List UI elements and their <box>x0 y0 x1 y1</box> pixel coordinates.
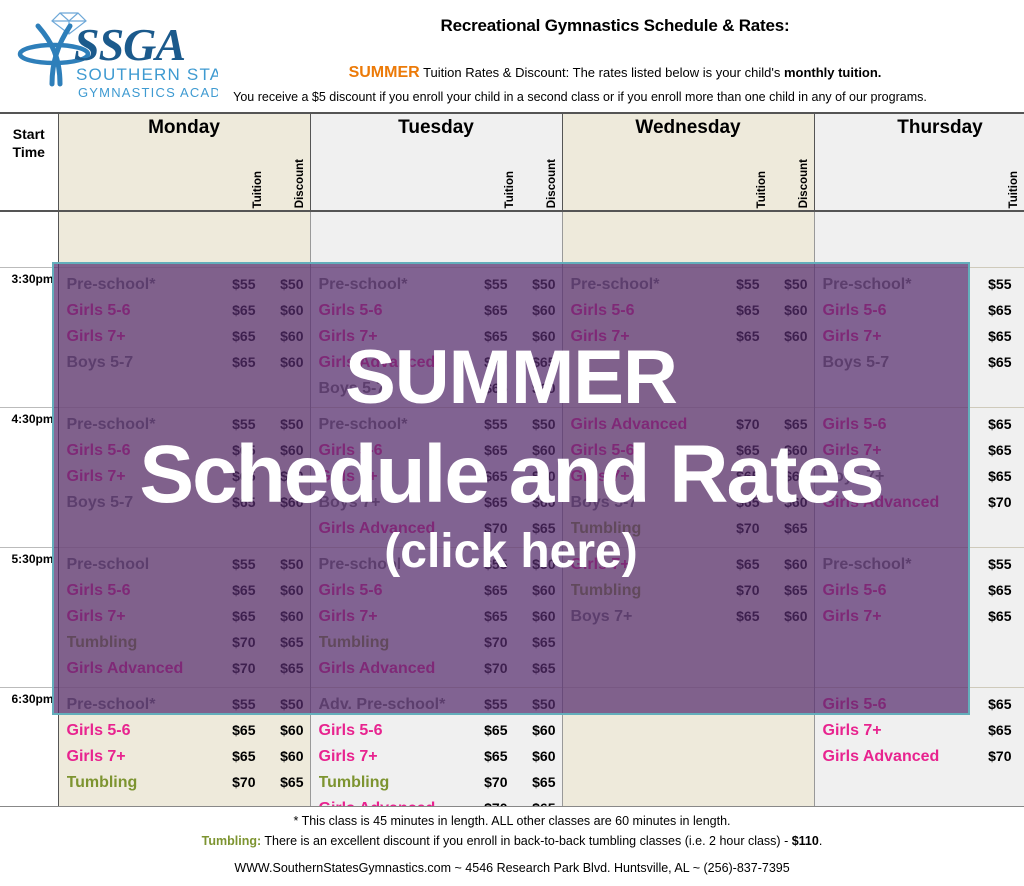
class-discount: $60 <box>1012 463 1024 489</box>
class-tuition: $65 <box>968 717 1012 743</box>
tumbling-price: $110 <box>792 834 819 848</box>
class-tuition: $65 <box>968 411 1012 437</box>
class-discount: $60 <box>1012 603 1024 629</box>
table-head: Start Time Monday Tuition Discount Tuesd… <box>0 113 1024 211</box>
footnote-tumbling: Tumbling: There is an excellent discount… <box>0 834 1024 848</box>
subtitle-rest: Tuition Rates & Discount: The rates list… <box>420 65 784 80</box>
spacer-cell <box>310 211 562 267</box>
class-entry: Girls 7+$65$60 <box>815 717 1024 743</box>
class-name: Girls 5-6 <box>319 718 464 744</box>
contact-info: WWW.SouthernStatesGymnastics.com ~ 4546 … <box>0 861 1024 875</box>
class-name: Girls Advanced <box>823 744 968 770</box>
spacer-cell <box>562 211 814 267</box>
class-tuition: $55 <box>968 271 1012 297</box>
class-discount: $50 <box>1012 271 1024 297</box>
class-tuition: $55 <box>968 551 1012 577</box>
svg-text:SSGA: SSGA <box>74 19 185 70</box>
row-time-label: 5:30pm <box>0 547 58 687</box>
class-discount: $65 <box>508 769 556 795</box>
subtitle-bold: monthly tuition. <box>784 65 881 80</box>
class-tuition: $65 <box>968 577 1012 603</box>
page-footer: * This class is 45 minutes in length. AL… <box>0 806 1024 886</box>
discount-label: Discount <box>294 159 306 208</box>
class-discount: $60 <box>256 743 304 769</box>
tuition-label: Tuition <box>252 171 264 208</box>
header-row: Start Time Monday Tuition Discount Tuesd… <box>0 113 1024 211</box>
spacer-cell <box>58 211 310 267</box>
class-entry: Tumbling$70$65 <box>59 769 310 795</box>
day-header-tuesday: Tuesday Tuition Discount <box>310 113 562 211</box>
tumbling-label: Tumbling: <box>202 834 261 848</box>
class-discount: $60 <box>508 743 556 769</box>
class-discount: $65 <box>256 769 304 795</box>
spacer-row <box>0 211 1024 267</box>
class-tuition: $65 <box>464 743 508 769</box>
season-label: SUMMER <box>349 64 420 81</box>
page-header: SSGA SOUTHERN STATES GYMNASTICS ACADEMY … <box>0 0 1024 112</box>
discount-note: You receive a $5 discount if you enroll … <box>150 90 1010 104</box>
class-tuition: $65 <box>968 349 1012 375</box>
class-entry: Girls Advanced$70$65 <box>815 743 1024 769</box>
overlay-line-2: Schedule and Rates <box>139 436 882 514</box>
class-discount: $60 <box>1012 349 1024 375</box>
class-tuition: $70 <box>212 769 256 795</box>
overlay-line-1: SUMMER <box>345 342 677 414</box>
spacer-time-cell <box>0 211 58 267</box>
day-label: Wednesday <box>563 117 814 139</box>
class-discount: $60 <box>1012 437 1024 463</box>
spacer-cell <box>814 211 1024 267</box>
class-tuition: $65 <box>968 297 1012 323</box>
tuition-label: Tuition <box>504 171 516 208</box>
class-discount: $60 <box>1012 717 1024 743</box>
tumbling-period: . <box>819 834 822 848</box>
discount-label: Discount <box>546 159 558 208</box>
class-name: Girls 7+ <box>67 744 212 770</box>
class-entry: Girls 7+$65$60 <box>59 743 310 769</box>
class-entry: Girls 7+$65$60 <box>311 743 562 769</box>
class-discount: $65 <box>1012 743 1024 769</box>
footnote-class-length: * This class is 45 minutes in length. AL… <box>0 814 1024 828</box>
class-discount: $50 <box>1012 551 1024 577</box>
day-header-thursday: Thursday Tuition Discount <box>814 113 1024 211</box>
page-title: Recreational Gymnastics Schedule & Rates… <box>220 16 1010 36</box>
class-tuition: $65 <box>212 743 256 769</box>
class-discount: $60 <box>1012 297 1024 323</box>
class-name: Tumbling <box>319 770 464 796</box>
class-name: Tumbling <box>67 770 212 796</box>
class-discount: $60 <box>256 717 304 743</box>
overlay-line-3: (click here) <box>384 528 637 576</box>
class-name: Girls 7+ <box>319 744 464 770</box>
day-label: Thursday <box>815 117 1024 139</box>
svg-text:SOUTHERN STATES: SOUTHERN STATES <box>76 65 218 84</box>
day-label: Monday <box>59 117 310 139</box>
start-time-line1: Start <box>0 126 58 144</box>
day-header-wednesday: Wednesday Tuition Discount <box>562 113 814 211</box>
row-time-label: 4:30pm <box>0 407 58 547</box>
class-tuition: $70 <box>464 769 508 795</box>
class-tuition: $65 <box>968 603 1012 629</box>
class-discount: $60 <box>1012 577 1024 603</box>
class-tuition: $65 <box>968 437 1012 463</box>
summer-schedule-overlay-link[interactable]: SUMMER Schedule and Rates (click here) <box>52 262 970 715</box>
class-entry: Tumbling$70$65 <box>311 769 562 795</box>
class-tuition: $65 <box>968 323 1012 349</box>
class-discount: $65 <box>1012 489 1024 515</box>
class-tuition: $70 <box>968 489 1012 515</box>
day-label: Tuesday <box>311 117 562 139</box>
row-time-label: 3:30pm <box>0 267 58 407</box>
start-time-line2: Time <box>0 144 58 162</box>
class-discount: $60 <box>1012 691 1024 717</box>
tuition-subtitle: SUMMER Tuition Rates & Discount: The rat… <box>220 64 1010 82</box>
discount-label: Discount <box>798 159 810 208</box>
class-entry: Girls 5-6$65$60 <box>59 717 310 743</box>
class-discount: $60 <box>1012 323 1024 349</box>
start-time-header: Start Time <box>0 113 58 211</box>
class-discount: $60 <box>508 717 556 743</box>
tumbling-text: There is an excellent discount if you en… <box>261 834 792 848</box>
tuition-label: Tuition <box>756 171 768 208</box>
class-discount: $60 <box>1012 411 1024 437</box>
day-header-monday: Monday Tuition Discount <box>58 113 310 211</box>
class-name: Girls 7+ <box>823 718 968 744</box>
class-tuition: $65 <box>212 717 256 743</box>
class-tuition: $65 <box>968 463 1012 489</box>
class-tuition: $65 <box>968 691 1012 717</box>
class-name: Girls 5-6 <box>67 718 212 744</box>
class-tuition: $70 <box>968 743 1012 769</box>
class-entry: Girls 5-6$65$60 <box>311 717 562 743</box>
class-tuition: $65 <box>464 717 508 743</box>
tuition-label: Tuition <box>1008 171 1020 208</box>
